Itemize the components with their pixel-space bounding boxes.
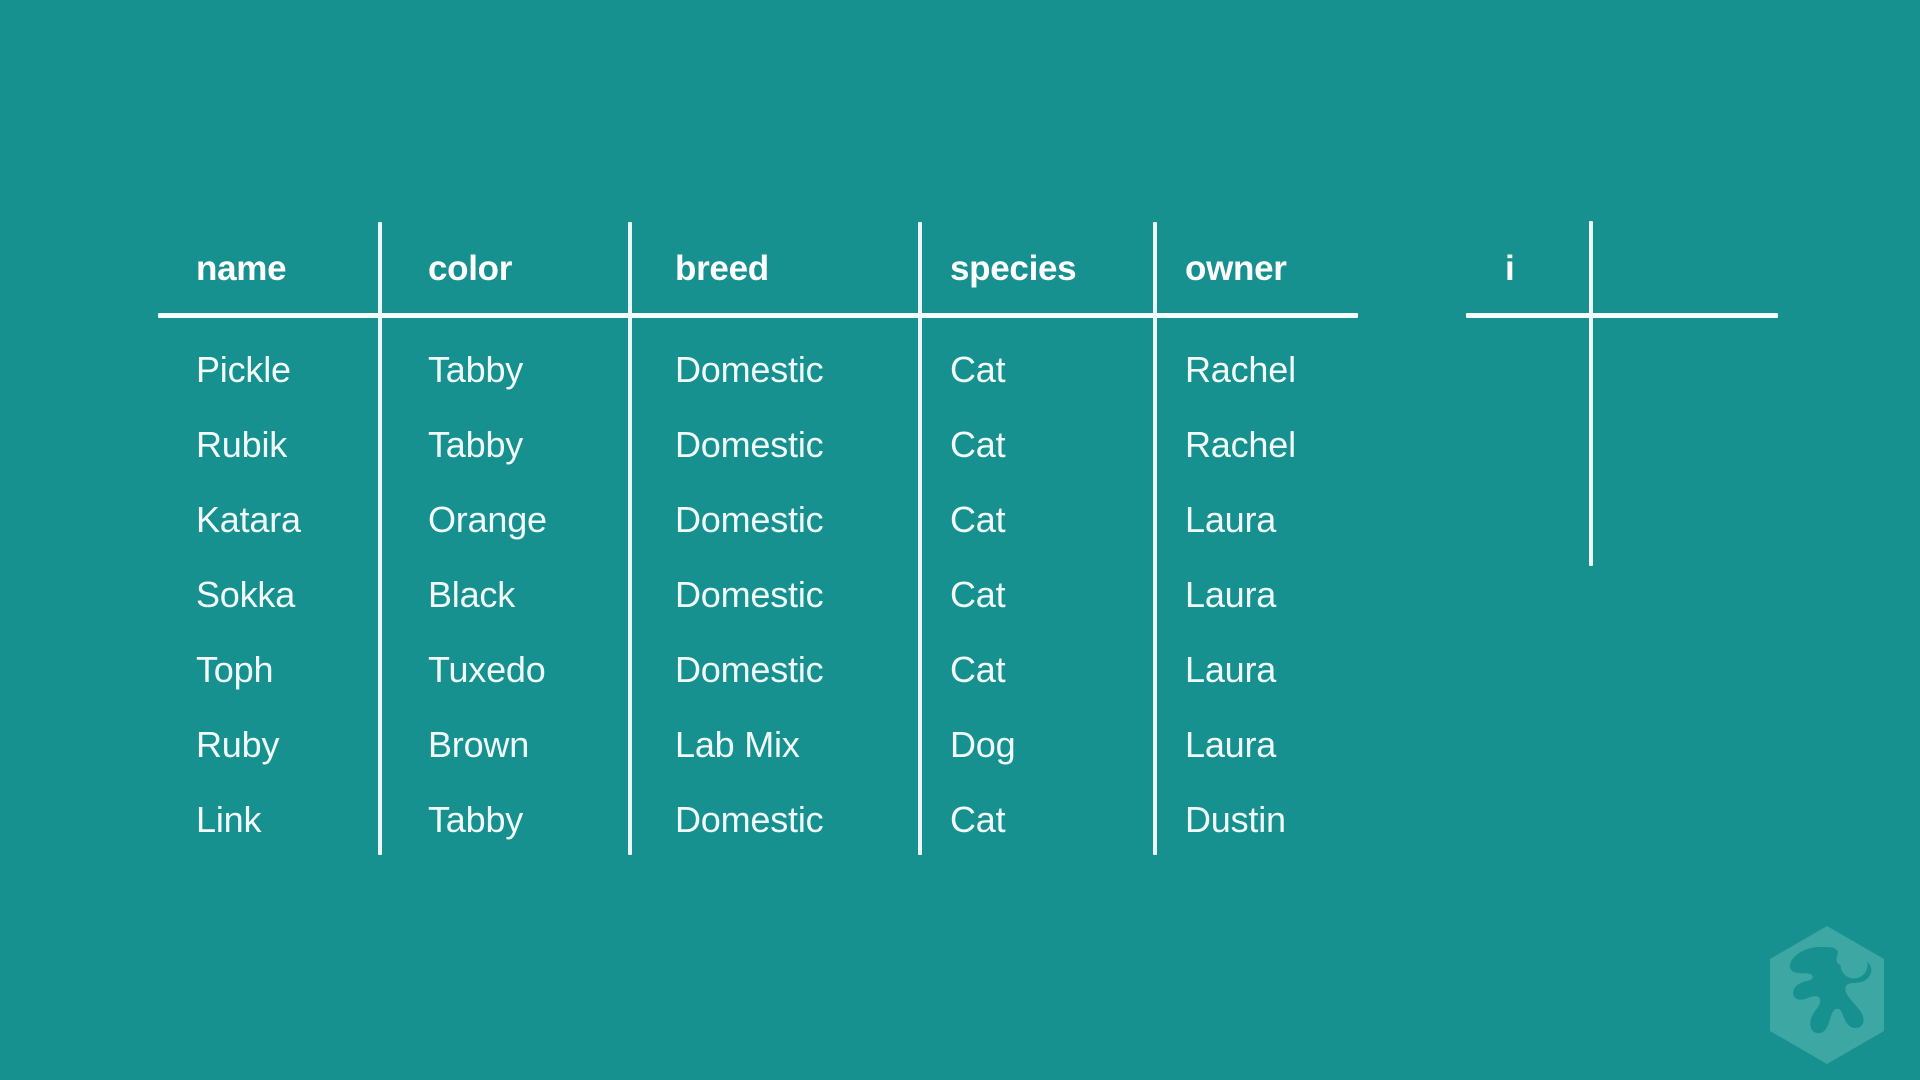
table-cell: Orange: [428, 502, 547, 538]
table-cell: Laura: [1185, 652, 1276, 688]
table-cell: Domestic: [675, 577, 823, 613]
table-cell: Cat: [950, 352, 1005, 388]
table-cell: Ruby: [196, 727, 279, 763]
header-underline-left: [158, 313, 1358, 318]
table-cell: Lab Mix: [675, 727, 800, 763]
table-cell: Domestic: [675, 502, 823, 538]
table-cell: Cat: [950, 577, 1005, 613]
column-header-owner[interactable]: owner: [1185, 251, 1287, 286]
column-divider-1: [378, 222, 382, 855]
table-cell: Link: [196, 802, 261, 838]
table-cell: Laura: [1185, 727, 1276, 763]
table-cell: Toph: [196, 652, 273, 688]
table-cell: Pickle: [196, 352, 291, 388]
column-header-name[interactable]: name: [196, 251, 286, 286]
splat-highlight: [1841, 952, 1868, 979]
table-cell: Cat: [950, 652, 1005, 688]
screen-root: name color breed species owner i Pickle …: [0, 0, 1920, 1080]
table-cell: Domestic: [675, 802, 823, 838]
table-cell: Cat: [950, 802, 1005, 838]
column-divider-2: [628, 222, 632, 855]
column-header-color[interactable]: color: [428, 251, 512, 286]
table-cell: Dustin: [1185, 802, 1286, 838]
column-header-breed[interactable]: breed: [675, 251, 769, 286]
column-divider-4: [1153, 222, 1157, 855]
table-cell: Domestic: [675, 352, 823, 388]
table-cell: Dog: [950, 727, 1015, 763]
table-cell: Domestic: [675, 652, 823, 688]
table-cell: Cat: [950, 502, 1005, 538]
table-cell: Rachel: [1185, 352, 1296, 388]
pets-table: name color breed species owner i Pickle …: [0, 0, 1920, 1080]
table-cell: Brown: [428, 727, 529, 763]
column-header-species[interactable]: species: [950, 251, 1076, 286]
table-cell: Tuxedo: [428, 652, 546, 688]
column-divider-3: [918, 222, 922, 855]
table-cell: Sokka: [196, 577, 295, 613]
table-cell: Laura: [1185, 502, 1276, 538]
column-header-i[interactable]: i: [1505, 251, 1514, 286]
header-underline-right: [1466, 313, 1778, 318]
table-cell: Katara: [196, 502, 301, 538]
table-cell: Cat: [950, 427, 1005, 463]
table-cell: Tabby: [428, 352, 523, 388]
column-divider-5: [1589, 221, 1593, 566]
table-cell: Rachel: [1185, 427, 1296, 463]
table-cell: Laura: [1185, 577, 1276, 613]
table-cell: Domestic: [675, 427, 823, 463]
egghead-logo-watermark: [1752, 920, 1902, 1070]
table-cell: Tabby: [428, 802, 523, 838]
table-cell: Rubik: [196, 427, 287, 463]
table-cell: Tabby: [428, 427, 523, 463]
table-cell: Black: [428, 577, 515, 613]
